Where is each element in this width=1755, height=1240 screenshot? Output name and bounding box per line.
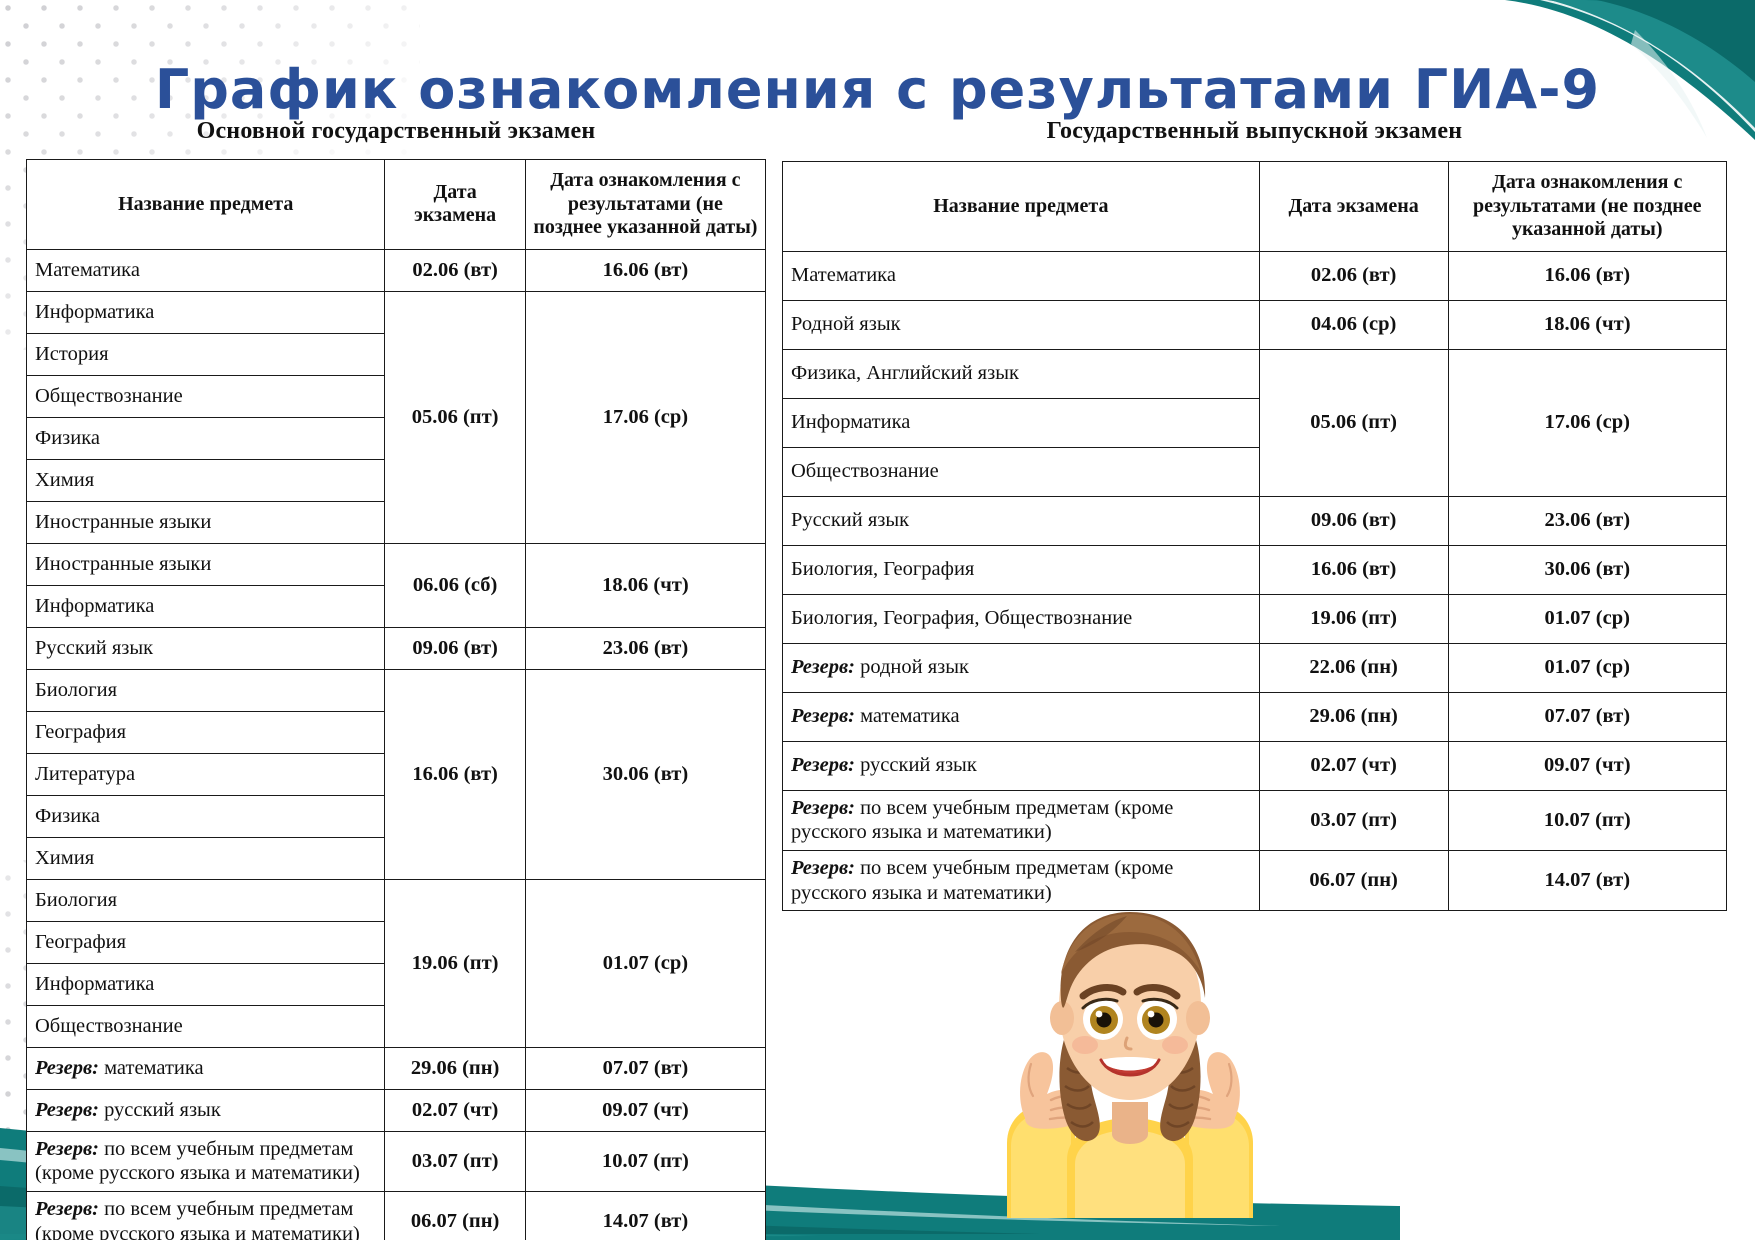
table-row: Родной язык04.06 (ср)18.06 (чт) (783, 300, 1727, 349)
cell-subject: Резерв: по всем учебным предметам (кроме… (27, 1191, 385, 1240)
gve-section: Государственный выпускной экзамен Назван… (782, 118, 1727, 911)
table-row: Резерв: русский язык02.07 (чт)09.07 (чт) (27, 1089, 766, 1131)
subject-text: русский язык (860, 754, 977, 776)
cell-result-date: 16.06 (вт) (525, 249, 765, 291)
cell-subject: Химия (27, 459, 385, 501)
cell-subject: Резерв: русский язык (783, 741, 1260, 790)
cell-subject: География (27, 711, 385, 753)
subject-text: русский язык (104, 1099, 221, 1121)
cell-result-date: 10.07 (пт) (525, 1131, 765, 1191)
cell-result-date: 17.06 (ср) (1448, 349, 1726, 496)
cell-result-date: 14.07 (вт) (525, 1191, 765, 1240)
col-header-result-date: Дата ознакомления с результатами (не поз… (525, 160, 765, 250)
cell-subject: Родной язык (783, 300, 1260, 349)
reserve-label: Резерв: (791, 705, 860, 727)
col-header-subject: Название предмета (783, 162, 1260, 252)
reserve-label: Резерв: (791, 857, 860, 879)
oge-heading: Основной государственный экзамен (26, 118, 766, 145)
cell-subject: Математика (27, 249, 385, 291)
cell-subject: История (27, 333, 385, 375)
table-row: Информатика05.06 (пт)17.06 (ср) (27, 291, 766, 333)
cell-result-date: 23.06 (вт) (1448, 496, 1726, 545)
cell-result-date: 14.07 (вт) (1448, 850, 1726, 910)
reserve-label: Резерв: (35, 1099, 104, 1121)
cell-subject: Биология, География (783, 545, 1260, 594)
cell-subject: Резерв: русский язык (27, 1089, 385, 1131)
oge-table-body: Математика02.06 (вт)16.06 (вт)Информатик… (27, 249, 766, 1240)
col-header-subject: Название предмета (27, 160, 385, 250)
reserve-label: Резерв: (35, 1057, 104, 1079)
cell-exam-date: 19.06 (пт) (1259, 594, 1448, 643)
cell-exam-date: 16.06 (вт) (1259, 545, 1448, 594)
cell-exam-date: 29.06 (пн) (1259, 692, 1448, 741)
cell-result-date: 23.06 (вт) (525, 627, 765, 669)
cell-exam-date: 04.06 (ср) (1259, 300, 1448, 349)
gve-table-body: Математика02.06 (вт)16.06 (вт)Родной язы… (783, 251, 1727, 910)
cell-subject: Обществознание (783, 447, 1260, 496)
cell-subject: Резерв: родной язык (783, 643, 1260, 692)
page-title: График ознакомления с результатами ГИА-9 (0, 58, 1755, 121)
table-row: Биология16.06 (вт)30.06 (вт) (27, 669, 766, 711)
cell-subject: Биология, География, Обществознание (783, 594, 1260, 643)
cell-subject: Обществознание (27, 1005, 385, 1047)
table-row: Резерв: по всем учебным предметам (кроме… (27, 1131, 766, 1191)
cell-result-date: 09.07 (чт) (525, 1089, 765, 1131)
cartoon-girl-thumbs-up-illustration (955, 888, 1305, 1218)
table-row: Русский язык09.06 (вт)23.06 (вт) (27, 627, 766, 669)
cell-subject: Резерв: математика (783, 692, 1260, 741)
cell-subject: Русский язык (783, 496, 1260, 545)
table-row: Русский язык09.06 (вт)23.06 (вт) (783, 496, 1727, 545)
cell-exam-date: 05.06 (пт) (1259, 349, 1448, 496)
cell-subject: Физика, Английский язык (783, 349, 1260, 398)
cell-exam-date: 29.06 (пн) (385, 1047, 525, 1089)
gve-heading: Государственный выпускной экзамен (782, 118, 1727, 145)
cell-result-date: 18.06 (чт) (525, 543, 765, 627)
cell-result-date: 01.07 (ср) (1448, 643, 1726, 692)
cell-exam-date: 02.07 (чт) (385, 1089, 525, 1131)
cell-result-date: 16.06 (вт) (1448, 251, 1726, 300)
cell-result-date: 30.06 (вт) (1448, 545, 1726, 594)
subject-text: родной язык (860, 656, 969, 678)
cell-subject: Резерв: по всем учебным предметам (кроме… (27, 1131, 385, 1191)
cell-exam-date: 09.06 (вт) (385, 627, 525, 669)
cell-subject: Биология (27, 879, 385, 921)
cell-exam-date: 02.06 (вт) (385, 249, 525, 291)
col-header-exam-date: Дата экзамена (1259, 162, 1448, 252)
table-row: Биология, География16.06 (вт)30.06 (вт) (783, 545, 1727, 594)
cell-subject: География (27, 921, 385, 963)
gve-table: Название предмета Дата экзамена Дата озн… (782, 161, 1727, 911)
col-header-result-date: Дата ознакомления с результатами (не поз… (1448, 162, 1726, 252)
reserve-label: Резерв: (791, 754, 860, 776)
reserve-label: Резерв: (791, 656, 860, 678)
cell-result-date: 18.06 (чт) (1448, 300, 1726, 349)
table-row: Физика, Английский язык05.06 (пт)17.06 (… (783, 349, 1727, 398)
table-row: Математика02.06 (вт)16.06 (вт) (783, 251, 1727, 300)
table-row: Резерв: русский язык02.07 (чт)09.07 (чт) (783, 741, 1727, 790)
table-row: Резерв: по всем учебным предметам (кроме… (783, 790, 1727, 850)
cell-subject: Иностранные языки (27, 501, 385, 543)
cell-result-date: 10.07 (пт) (1448, 790, 1726, 850)
subject-text: математика (104, 1057, 204, 1079)
cell-subject: Химия (27, 837, 385, 879)
table-row: Математика02.06 (вт)16.06 (вт) (27, 249, 766, 291)
col-header-exam-date: Дата экзамена (385, 160, 525, 250)
slide-canvas: График ознакомления с результатами ГИА-9… (0, 0, 1755, 1240)
cell-exam-date: 06.06 (сб) (385, 543, 525, 627)
cell-subject: Информатика (27, 585, 385, 627)
cell-exam-date: 05.06 (пт) (385, 291, 525, 543)
cell-subject: Биология (27, 669, 385, 711)
reserve-label: Резерв: (35, 1138, 104, 1160)
table-row: Биология, География, Обществознание19.06… (783, 594, 1727, 643)
cell-result-date: 09.07 (чт) (1448, 741, 1726, 790)
cell-subject: Резерв: по всем учебным предметам (кроме… (783, 790, 1260, 850)
cell-result-date: 01.07 (ср) (1448, 594, 1726, 643)
cell-exam-date: 16.06 (вт) (385, 669, 525, 879)
cell-subject: Резерв: математика (27, 1047, 385, 1089)
table-header-row: Название предмета Дата экзамена Дата озн… (27, 160, 766, 250)
oge-section: Основной государственный экзамен Названи… (26, 118, 766, 1240)
table-row: Биология19.06 (пт)01.07 (ср) (27, 879, 766, 921)
oge-table: Название предмета Дата экзамена Дата озн… (26, 159, 766, 1240)
cell-subject: Русский язык (27, 627, 385, 669)
reserve-label: Резерв: (791, 797, 860, 819)
cell-subject: Литература (27, 753, 385, 795)
cell-subject: Информатика (27, 291, 385, 333)
cell-exam-date: 06.07 (пн) (385, 1191, 525, 1240)
cell-subject: Физика (27, 795, 385, 837)
cell-result-date: 07.07 (вт) (1448, 692, 1726, 741)
subject-text: математика (860, 705, 960, 727)
cell-result-date: 17.06 (ср) (525, 291, 765, 543)
cell-subject: Информатика (27, 963, 385, 1005)
table-row: Резерв: по всем учебным предметам (кроме… (27, 1191, 766, 1240)
cell-result-date: 07.07 (вт) (525, 1047, 765, 1089)
table-header-row: Название предмета Дата экзамена Дата озн… (783, 162, 1727, 252)
cell-exam-date: 19.06 (пт) (385, 879, 525, 1047)
cell-exam-date: 02.06 (вт) (1259, 251, 1448, 300)
cell-exam-date: 03.07 (пт) (1259, 790, 1448, 850)
table-row: Резерв: математика29.06 (пн)07.07 (вт) (783, 692, 1727, 741)
cell-subject: Иностранные языки (27, 543, 385, 585)
cell-subject: Физика (27, 417, 385, 459)
cell-result-date: 30.06 (вт) (525, 669, 765, 879)
reserve-label: Резерв: (35, 1198, 104, 1220)
cell-exam-date: 22.06 (пн) (1259, 643, 1448, 692)
cell-subject: Обществознание (27, 375, 385, 417)
cell-exam-date: 03.07 (пт) (385, 1131, 525, 1191)
cell-subject: Математика (783, 251, 1260, 300)
cell-subject: Информатика (783, 398, 1260, 447)
table-row: Резерв: родной язык22.06 (пн)01.07 (ср) (783, 643, 1727, 692)
cell-exam-date: 02.07 (чт) (1259, 741, 1448, 790)
table-row: Резерв: математика29.06 (пн)07.07 (вт) (27, 1047, 766, 1089)
table-row: Иностранные языки06.06 (сб)18.06 (чт) (27, 543, 766, 585)
cell-result-date: 01.07 (ср) (525, 879, 765, 1047)
cell-exam-date: 09.06 (вт) (1259, 496, 1448, 545)
